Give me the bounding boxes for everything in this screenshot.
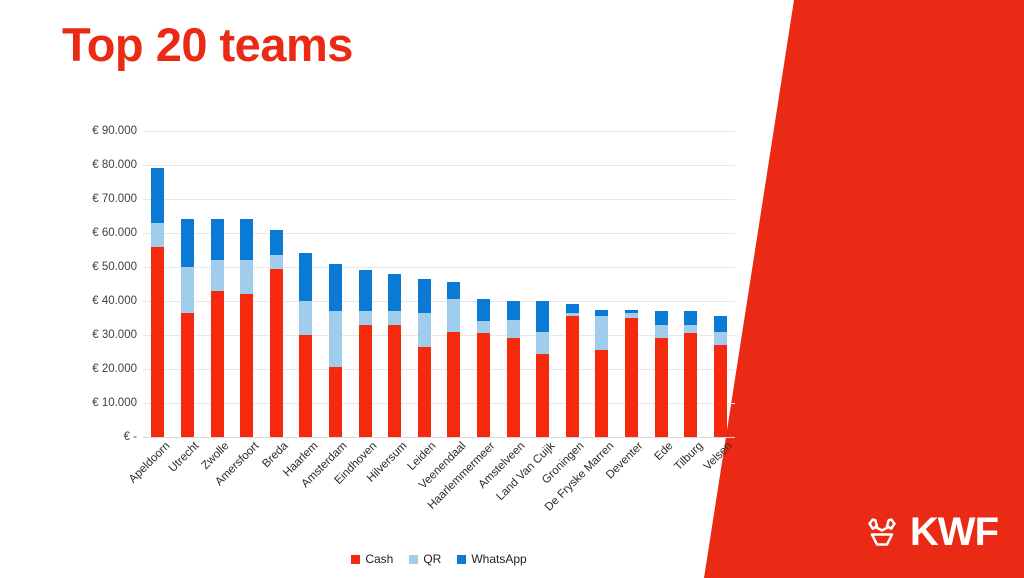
y-tick-label: € 80.000 — [92, 159, 137, 171]
x-tick-label: Utrecht — [167, 440, 202, 475]
bar-segment-qr[interactable] — [270, 255, 283, 269]
bar-stack — [447, 282, 460, 437]
bar-segment-whatsapp[interactable] — [270, 230, 283, 256]
bars-layer — [143, 131, 735, 437]
bar-segment-qr[interactable] — [714, 332, 727, 346]
legend-swatch-icon — [409, 555, 418, 564]
bar-segment-whatsapp[interactable] — [211, 219, 224, 260]
bar-column[interactable] — [714, 131, 727, 437]
bar-column[interactable] — [447, 131, 460, 437]
kwf-logo: KWF — [862, 512, 998, 552]
legend-item[interactable]: WhatsApp — [457, 552, 526, 566]
bar-column[interactable] — [684, 131, 697, 437]
bar-stack — [211, 219, 224, 437]
bar-segment-cash[interactable] — [329, 367, 342, 437]
bar-segment-cash[interactable] — [359, 325, 372, 437]
bar-column[interactable] — [240, 131, 253, 437]
bar-stack — [270, 230, 283, 437]
bar-stack — [329, 264, 342, 437]
bar-stack — [240, 219, 253, 437]
gridline — [143, 437, 735, 438]
x-axis-labels: ApeldoornUtrechtZwolleAmersfoortBredaHaa… — [143, 440, 735, 510]
bar-column[interactable] — [566, 131, 579, 437]
bar-stack — [714, 316, 727, 437]
bar-segment-whatsapp[interactable] — [595, 310, 608, 317]
bar-segment-whatsapp[interactable] — [477, 299, 490, 321]
bar-stack — [536, 301, 549, 437]
bar-segment-whatsapp[interactable] — [299, 253, 312, 301]
legend-swatch-icon — [351, 555, 360, 564]
bar-segment-qr[interactable] — [211, 260, 224, 291]
stacked-bar-chart: € -€ 10.000€ 20.000€ 30.000€ 40.000€ 50.… — [0, 0, 780, 578]
kwf-crab-icon — [862, 512, 902, 552]
bar-column[interactable] — [507, 131, 520, 437]
y-tick-label: € - — [124, 431, 137, 443]
x-tick-label: Velsen — [702, 440, 735, 473]
x-tick-label: Apeldoorn — [127, 440, 173, 486]
bar-segment-whatsapp[interactable] — [536, 301, 549, 332]
bar-column[interactable] — [536, 131, 549, 437]
bar-stack — [655, 311, 668, 437]
bar-column[interactable] — [477, 131, 490, 437]
bar-segment-cash[interactable] — [625, 318, 638, 437]
bar-segment-cash[interactable] — [270, 269, 283, 437]
bar-column[interactable] — [655, 131, 668, 437]
bar-segment-cash[interactable] — [447, 332, 460, 437]
bar-segment-cash[interactable] — [477, 333, 490, 437]
bar-segment-qr[interactable] — [359, 311, 372, 325]
bar-segment-qr[interactable] — [595, 316, 608, 350]
bar-segment-whatsapp[interactable] — [566, 304, 579, 313]
bar-column[interactable] — [329, 131, 342, 437]
y-tick-label: € 90.000 — [92, 125, 137, 137]
bar-segment-cash[interactable] — [714, 345, 727, 437]
bar-stack — [388, 274, 401, 437]
legend-item[interactable]: Cash — [351, 552, 393, 566]
bar-segment-cash[interactable] — [507, 338, 520, 437]
bar-column[interactable] — [388, 131, 401, 437]
x-tick-label: Tilburg — [672, 440, 705, 473]
bar-segment-qr[interactable] — [447, 299, 460, 331]
bar-segment-whatsapp[interactable] — [714, 316, 727, 331]
bar-column[interactable] — [418, 131, 431, 437]
legend-item[interactable]: QR — [409, 552, 441, 566]
bar-stack — [507, 301, 520, 437]
bar-column[interactable] — [595, 131, 608, 437]
bar-segment-qr[interactable] — [329, 311, 342, 367]
bar-stack — [359, 270, 372, 437]
bar-segment-qr[interactable] — [655, 325, 668, 339]
bar-segment-qr[interactable] — [418, 313, 431, 347]
bar-segment-qr[interactable] — [240, 260, 253, 294]
legend-label: QR — [423, 552, 441, 566]
bar-column[interactable] — [211, 131, 224, 437]
bar-segment-cash[interactable] — [595, 350, 608, 437]
bar-segment-cash[interactable] — [388, 325, 401, 437]
bar-column[interactable] — [625, 131, 638, 437]
bar-column[interactable] — [270, 131, 283, 437]
bar-column[interactable] — [181, 131, 194, 437]
bar-stack — [151, 168, 164, 437]
bar-segment-cash[interactable] — [655, 338, 668, 437]
bar-segment-cash[interactable] — [151, 247, 164, 437]
y-tick-label: € 30.000 — [92, 329, 137, 341]
bar-segment-whatsapp[interactable] — [507, 301, 520, 320]
bar-stack — [477, 299, 490, 437]
bar-stack — [625, 310, 638, 437]
y-tick-label: € 20.000 — [92, 363, 137, 375]
bar-segment-cash[interactable] — [181, 313, 194, 437]
plot-area — [143, 131, 735, 437]
kwf-wordmark: KWF — [910, 512, 998, 552]
bar-column[interactable] — [299, 131, 312, 437]
bar-segment-whatsapp[interactable] — [181, 219, 194, 267]
bar-segment-whatsapp[interactable] — [240, 219, 253, 260]
y-tick-label: € 50.000 — [92, 261, 137, 273]
bar-stack — [566, 304, 579, 437]
bar-segment-whatsapp[interactable] — [684, 311, 697, 325]
bar-segment-qr[interactable] — [536, 332, 549, 354]
bar-stack — [299, 253, 312, 437]
bar-segment-whatsapp[interactable] — [151, 168, 164, 222]
chart-legend: CashQRWhatsApp — [143, 552, 735, 566]
bar-stack — [684, 311, 697, 437]
bar-segment-cash[interactable] — [211, 291, 224, 437]
bar-segment-whatsapp[interactable] — [655, 311, 668, 325]
bar-segment-whatsapp[interactable] — [329, 264, 342, 312]
bar-stack — [181, 219, 194, 437]
bar-segment-whatsapp[interactable] — [447, 282, 460, 299]
bar-segment-qr[interactable] — [477, 321, 490, 333]
bar-stack — [418, 279, 431, 437]
bar-segment-whatsapp[interactable] — [418, 279, 431, 313]
y-axis: € -€ 10.000€ 20.000€ 30.000€ 40.000€ 50.… — [55, 131, 137, 437]
legend-swatch-icon — [457, 555, 466, 564]
bar-column[interactable] — [151, 131, 164, 437]
y-tick-label: € 70.000 — [92, 193, 137, 205]
bar-segment-qr[interactable] — [684, 325, 697, 334]
bar-segment-cash[interactable] — [240, 294, 253, 437]
bar-segment-qr[interactable] — [151, 223, 164, 247]
bar-segment-qr[interactable] — [299, 301, 312, 335]
slide-canvas: Top 20 teams KWF € -€ 10.000€ 20.000€ 30… — [0, 0, 1024, 578]
bar-segment-qr[interactable] — [388, 311, 401, 325]
bar-segment-cash[interactable] — [418, 347, 431, 437]
bar-segment-cash[interactable] — [684, 333, 697, 437]
x-tick-label: Ede — [653, 440, 676, 463]
bar-segment-cash[interactable] — [299, 335, 312, 437]
bar-stack — [595, 310, 608, 437]
bar-segment-cash[interactable] — [536, 354, 549, 437]
y-tick-label: € 40.000 — [92, 295, 137, 307]
legend-label: Cash — [365, 552, 393, 566]
y-tick-label: € 60.000 — [92, 227, 137, 239]
y-tick-label: € 10.000 — [92, 397, 137, 409]
legend-label: WhatsApp — [471, 552, 526, 566]
bar-segment-cash[interactable] — [566, 316, 579, 437]
bar-segment-whatsapp[interactable] — [359, 270, 372, 311]
bar-segment-qr[interactable] — [507, 320, 520, 339]
bar-segment-qr[interactable] — [181, 267, 194, 313]
bar-column[interactable] — [359, 131, 372, 437]
bar-segment-whatsapp[interactable] — [388, 274, 401, 311]
